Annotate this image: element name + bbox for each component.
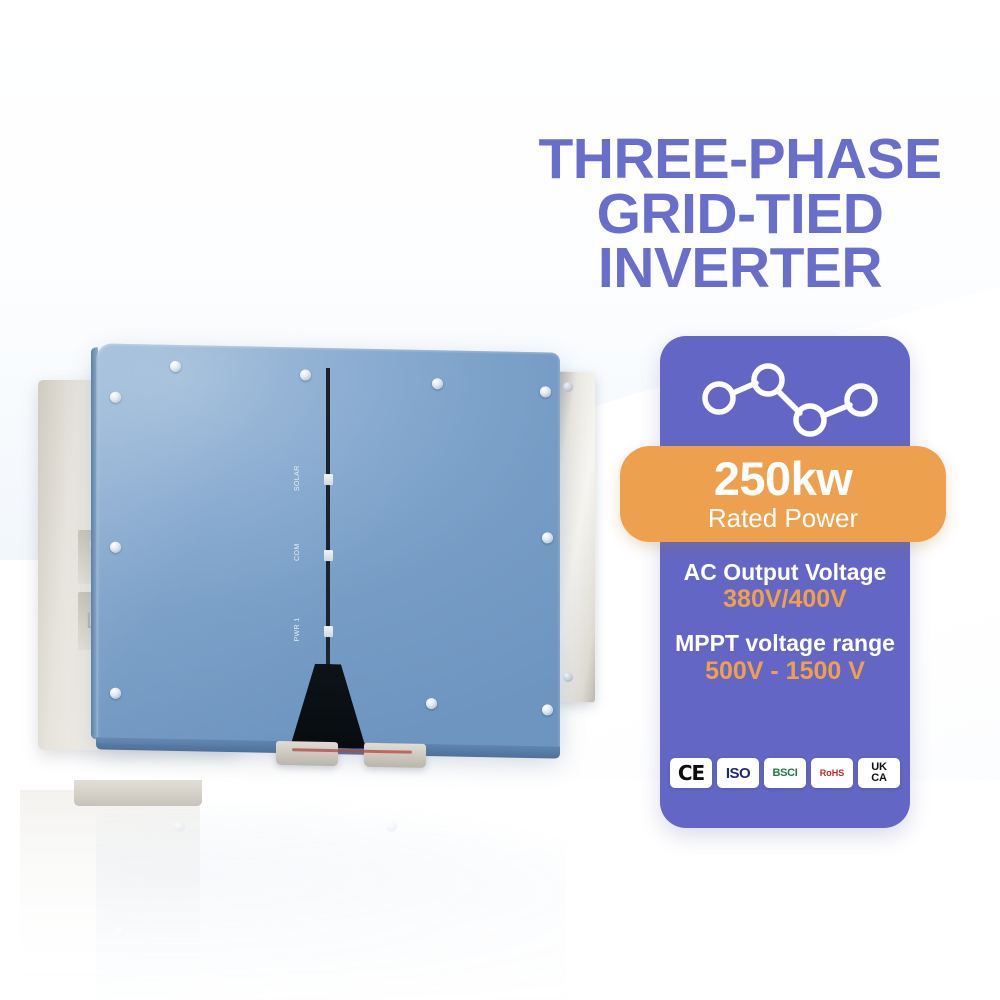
certification-badges: CE ISO BSCI RoHS UK CA: [660, 758, 910, 788]
panel-screw: [300, 369, 311, 380]
inverter-product-image: L SOLAR COM PWR 1: [18, 330, 638, 800]
spec-value: 500V - 1500 V: [660, 657, 910, 686]
panel-center-seam: [326, 368, 330, 698]
badge-ukca-label: UK CA: [871, 762, 887, 784]
badge-bsci-label: BSCI: [772, 767, 797, 779]
rated-power-label: Rated Power: [708, 504, 858, 533]
reflection-screw: [114, 926, 125, 937]
product-reflection: [96, 795, 566, 1000]
panel-screw: [110, 688, 121, 699]
inverter-side-heatsink: [557, 372, 595, 703]
fin-screw: [563, 382, 573, 392]
rated-power-banner: 250kw Rated Power: [620, 446, 946, 542]
inverter-front-panel: SOLAR COM PWR 1: [96, 343, 560, 752]
chassis-foot: [74, 780, 202, 806]
seam-label: COM: [294, 543, 320, 561]
spec-item-ac-output-voltage: AC Output Voltage 380V/400V: [660, 560, 910, 614]
badge-ukca-line2: CA: [871, 772, 887, 784]
page-title: THREE-PHASE GRID-TIED INVERTER: [520, 132, 960, 296]
spec-title: MPPT voltage range: [660, 631, 910, 655]
title-line-2: GRID-TIED: [520, 187, 960, 242]
mounting-foot: [364, 743, 426, 768]
badge-rohs-label: RoHS: [820, 768, 845, 778]
panel-screw: [170, 361, 181, 372]
reflection-screw: [386, 821, 397, 832]
panel-screw: [542, 704, 553, 715]
fin-screw: [563, 672, 573, 682]
seam-label: SOLAR: [294, 465, 320, 491]
title-line-1: THREE-PHASE: [520, 132, 960, 187]
rated-power-value: 250kw: [714, 455, 853, 502]
spec-item-mppt-voltage-range: MPPT voltage range 500V - 1500 V: [660, 631, 910, 685]
inverter-vent: [290, 663, 366, 749]
spec-title: AC Output Voltage: [660, 560, 910, 584]
panel-screw: [432, 378, 443, 389]
badge-bsci: BSCI: [764, 758, 806, 788]
badge-ce: CE: [670, 758, 712, 788]
seam-label: PWR 1: [294, 617, 320, 642]
panel-screw: [426, 698, 437, 709]
spec-value: 380V/400V: [660, 585, 910, 614]
seam-indicator: [324, 550, 333, 561]
panel-screw: [542, 532, 553, 543]
panel-screw: [110, 542, 121, 553]
panel-screw: [110, 392, 121, 403]
badge-ukca: UK CA: [858, 758, 900, 788]
scene-background: L SOLAR COM PWR 1: [0, 0, 1000, 1000]
panel-screw: [540, 386, 551, 397]
seam-indicator: [324, 626, 333, 637]
title-line-3: INVERTER: [520, 241, 960, 296]
badge-ce-label: CE: [678, 761, 704, 785]
spec-list: AC Output Voltage 380V/400V MPPT voltage…: [660, 560, 910, 685]
reflection-screw: [174, 821, 185, 832]
badge-rohs: RoHS: [811, 758, 853, 788]
seam-indicator: [324, 474, 333, 485]
badge-iso: ISO: [717, 758, 759, 788]
network-nodes-icon: [660, 350, 910, 442]
mounting-foot: [276, 741, 338, 766]
badge-iso-label: ISO: [726, 765, 750, 782]
panel-left-edge: [91, 347, 98, 739]
